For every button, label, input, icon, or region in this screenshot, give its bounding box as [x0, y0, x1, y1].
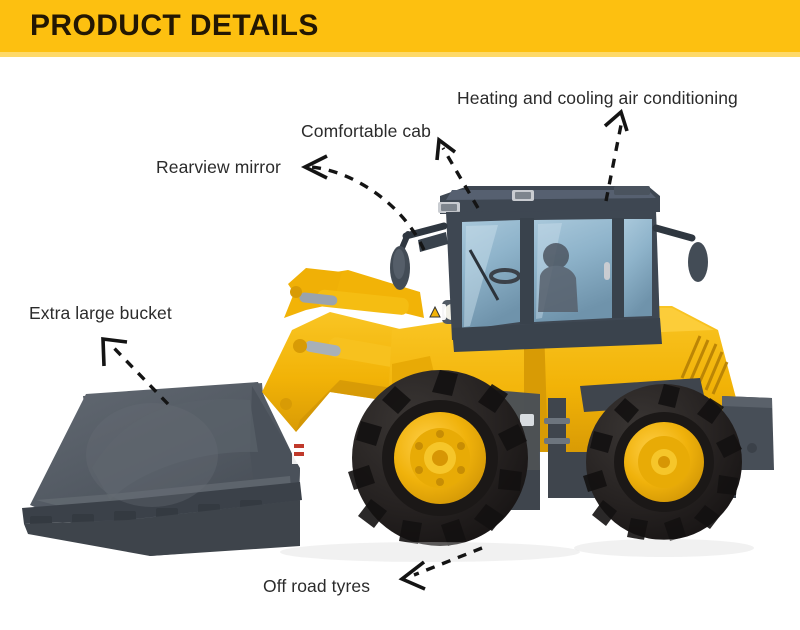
callout-label-extra-large-bucket: Extra large bucket [29, 303, 172, 324]
callout-label-rearview-mirror: Rearview mirror [156, 157, 281, 178]
product-details-page: PRODUCT DETAILS [0, 0, 800, 630]
callout-label-comfortable-cab: Comfortable cab [301, 121, 431, 142]
callout-label-heating-cooling-air-conditioning: Heating and cooling air conditioning [457, 88, 738, 109]
callout-label-off-road-tyres: Off road tyres [263, 576, 370, 597]
loader-bucket [22, 382, 302, 556]
